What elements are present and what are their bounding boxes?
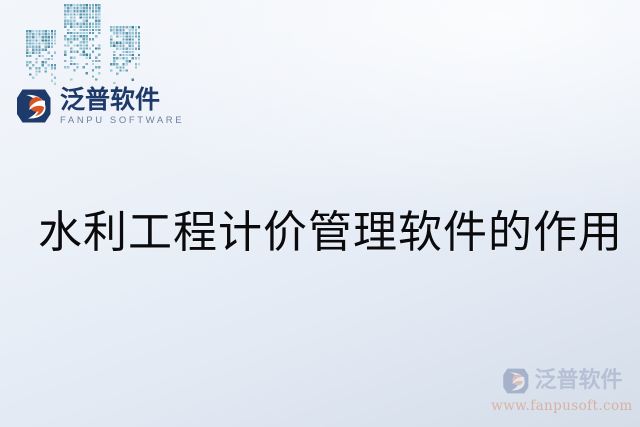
skyline-tile	[110, 38, 112, 40]
skyline-tile	[113, 54, 115, 56]
skyline-tile	[132, 35, 134, 37]
skyline-tile	[92, 23, 94, 25]
skyline-tile	[51, 80, 53, 82]
skyline-tile	[42, 55, 44, 57]
watermark-logo-row: 泛普软件	[501, 366, 622, 396]
pixel-skyline-graphic	[26, 2, 144, 88]
skyline-tile	[70, 26, 72, 28]
skyline-tile	[116, 63, 118, 65]
skyline-tile	[132, 57, 134, 59]
skyline-tile	[64, 4, 66, 6]
skyline-tile	[129, 51, 131, 53]
skyline-tile	[95, 57, 97, 59]
skyline-tile	[122, 63, 124, 65]
skyline-tile	[116, 26, 118, 28]
skyline-tile	[92, 13, 94, 15]
skyline-tile	[92, 29, 94, 31]
skyline-tile	[35, 46, 37, 48]
skyline-tile	[76, 10, 78, 12]
skyline-tile	[83, 32, 85, 34]
skyline-tile	[80, 7, 82, 9]
skyline-tile	[73, 26, 75, 28]
skyline-tile	[38, 36, 40, 38]
skyline-tile	[38, 33, 40, 35]
skyline-tile	[92, 7, 94, 9]
skyline-tile	[26, 49, 28, 51]
skyline-tile	[116, 35, 118, 37]
skyline-tile	[48, 42, 50, 44]
skyline-tile	[51, 30, 53, 32]
skyline-tile	[116, 57, 118, 59]
skyline-tile	[48, 64, 50, 66]
skyline-tile	[29, 33, 31, 35]
skyline-tile	[138, 35, 140, 37]
skyline-tile	[138, 54, 140, 56]
skyline-tile	[42, 49, 44, 51]
skyline-tile	[29, 46, 31, 48]
skyline-tile	[80, 35, 82, 37]
skyline-tile	[122, 29, 124, 31]
skyline-tile	[113, 32, 115, 34]
skyline-tile	[126, 32, 128, 34]
skyline-tile	[138, 42, 140, 44]
skyline-tile	[42, 36, 44, 38]
skyline-tile	[51, 36, 53, 38]
skyline-tile	[54, 30, 56, 32]
banner-canvas: 泛普软件 FANPU SOFTWARE 水利工程计价管理软件的作用 泛普软件 w…	[0, 0, 640, 427]
skyline-tile	[126, 35, 128, 37]
skyline-tile	[126, 54, 128, 56]
skyline-tile	[86, 20, 88, 22]
skyline-tile	[129, 32, 131, 34]
skyline-tile	[86, 7, 88, 9]
skyline-tile	[116, 48, 118, 50]
skyline-tile	[54, 52, 56, 54]
skyline-tile	[83, 41, 85, 43]
skyline-tile	[67, 23, 69, 25]
skyline-tile	[95, 26, 97, 28]
skyline-tile	[98, 44, 100, 46]
skyline-tile	[73, 13, 75, 15]
skyline-tile	[95, 16, 97, 18]
skyline-tile	[70, 47, 72, 49]
skyline-tile	[64, 51, 66, 53]
skyline-tile	[86, 16, 88, 18]
skyline-tile	[51, 67, 53, 69]
skyline-tile	[45, 61, 47, 63]
skyline-tile	[64, 23, 66, 25]
skyline-tile	[113, 63, 115, 65]
skyline-tile	[54, 42, 56, 44]
skyline-tile	[83, 4, 85, 6]
skyline-tile	[26, 46, 28, 48]
skyline-tile	[98, 54, 100, 56]
skyline-tile	[48, 36, 50, 38]
fanpu-logo-mark-icon	[14, 86, 54, 126]
skyline-tile	[42, 30, 44, 32]
skyline-tile	[26, 64, 28, 66]
skyline-tile	[73, 20, 75, 22]
skyline-tile	[80, 32, 82, 34]
skyline-tile	[122, 42, 124, 44]
skyline-tile	[73, 63, 75, 65]
skyline-tile	[119, 45, 121, 47]
skyline-tile	[113, 57, 115, 59]
skyline-tile	[132, 32, 134, 34]
skyline-tile	[35, 58, 37, 60]
skyline-tile	[89, 47, 91, 49]
skyline-tile	[45, 49, 47, 51]
skyline-tile	[29, 36, 31, 38]
skyline-tile	[86, 29, 88, 31]
skyline-tile	[129, 60, 131, 62]
skyline-tile	[51, 39, 53, 41]
skyline-tile	[32, 52, 34, 54]
skyline-tile	[70, 63, 72, 65]
skyline-tile	[132, 45, 134, 47]
skyline-tile	[119, 57, 121, 59]
skyline-tile	[86, 38, 88, 40]
skyline-tile	[86, 44, 88, 46]
skyline-tile	[51, 58, 53, 60]
skyline-tile	[92, 38, 94, 40]
skyline-tile	[48, 46, 50, 48]
skyline-tile	[42, 61, 44, 63]
skyline-tile	[48, 39, 50, 41]
skyline-tile	[70, 20, 72, 22]
skyline-tile	[54, 39, 56, 41]
skyline-tile	[83, 7, 85, 9]
skyline-tile	[86, 57, 88, 59]
skyline-tile	[95, 60, 97, 62]
skyline-tile	[80, 26, 82, 28]
skyline-tile	[122, 38, 124, 40]
skyline-tile	[132, 38, 134, 40]
skyline-tile	[76, 7, 78, 9]
skyline-tile	[35, 30, 37, 32]
fanpu-logo-mark-watermark-icon	[501, 366, 531, 396]
skyline-tile	[35, 73, 37, 75]
skyline-tile	[95, 10, 97, 12]
skyline-tile	[83, 26, 85, 28]
skyline-tile	[45, 42, 47, 44]
skyline-tile	[92, 26, 94, 28]
skyline-tile	[45, 70, 47, 72]
skyline-tile	[73, 69, 75, 71]
skyline-tile	[83, 51, 85, 53]
skyline-tile	[83, 38, 85, 40]
skyline-tile	[89, 29, 91, 31]
skyline-tile	[86, 41, 88, 43]
skyline-tile	[89, 57, 91, 59]
skyline-tile	[35, 61, 37, 63]
skyline-tile	[70, 38, 72, 40]
skyline-tile	[51, 64, 53, 66]
skyline-tile	[86, 13, 88, 15]
skyline-tile	[80, 29, 82, 31]
skyline-tile	[113, 29, 115, 31]
skyline-tile	[64, 44, 66, 46]
skyline-tile	[76, 66, 78, 68]
skyline-tile	[64, 38, 66, 40]
skyline-tile	[35, 52, 37, 54]
skyline-tile	[89, 54, 91, 56]
skyline-tile	[26, 39, 28, 41]
skyline-tile	[67, 38, 69, 40]
skyline-tile	[80, 13, 82, 15]
skyline-tile	[73, 44, 75, 46]
skyline-tile	[83, 20, 85, 22]
skyline-tile	[80, 16, 82, 18]
skyline-tile	[76, 38, 78, 40]
skyline-tile	[132, 42, 134, 44]
skyline-tile	[122, 51, 124, 53]
skyline-tile	[48, 58, 50, 60]
skyline-tile	[70, 32, 72, 34]
skyline-tile	[32, 42, 34, 44]
skyline-tile	[80, 10, 82, 12]
skyline-tile	[83, 44, 85, 46]
company-name-cn: 泛普软件	[60, 87, 184, 112]
skyline-tile	[32, 49, 34, 51]
skyline-tile	[89, 4, 91, 6]
skyline-tile	[26, 36, 28, 38]
skyline-tile	[122, 35, 124, 37]
skyline-tile	[113, 82, 115, 84]
skyline-tile	[122, 66, 124, 68]
skyline-tile	[110, 69, 112, 71]
skyline-tile	[64, 66, 66, 68]
skyline-tile	[132, 48, 134, 50]
skyline-tile	[119, 26, 121, 28]
skyline-tile	[122, 54, 124, 56]
skyline-tile	[38, 46, 40, 48]
skyline-tile	[89, 26, 91, 28]
skyline-tile	[129, 29, 131, 31]
skyline-tile	[67, 20, 69, 22]
skyline-tile	[45, 36, 47, 38]
skyline-tile	[83, 23, 85, 25]
skyline-tile	[32, 64, 34, 66]
skyline-tile	[116, 73, 118, 75]
skyline-tile	[70, 4, 72, 6]
skyline-tile	[70, 35, 72, 37]
skyline-tile	[54, 36, 56, 38]
skyline-tile	[95, 20, 97, 22]
skyline-tile	[42, 39, 44, 41]
skyline-tile	[129, 54, 131, 56]
skyline-tile	[92, 60, 94, 62]
skyline-tile	[70, 41, 72, 43]
skyline-tile	[48, 33, 50, 35]
skyline-tile	[119, 29, 121, 31]
skyline-tile	[92, 69, 94, 71]
skyline-tile	[35, 39, 37, 41]
skyline-tile	[92, 63, 94, 65]
skyline-tile	[38, 70, 40, 72]
skyline-tile	[92, 10, 94, 12]
skyline-tile	[73, 4, 75, 6]
skyline-tile	[83, 66, 85, 68]
skyline-tile	[73, 35, 75, 37]
skyline-tile	[86, 10, 88, 12]
skyline-tile	[45, 67, 47, 69]
skyline-tile	[110, 29, 112, 31]
skyline-tile	[51, 73, 53, 75]
skyline-tile	[45, 46, 47, 48]
skyline-tile	[83, 35, 85, 37]
skyline-tile	[73, 32, 75, 34]
skyline-tile	[113, 45, 115, 47]
skyline-tile	[135, 48, 137, 50]
skyline-tile	[38, 52, 40, 54]
skyline-tile	[89, 23, 91, 25]
skyline-tile	[64, 10, 66, 12]
skyline-tile	[67, 32, 69, 34]
skyline-tile	[32, 39, 34, 41]
skyline-tile	[92, 4, 94, 6]
page-title: 水利工程计价管理软件的作用	[38, 207, 623, 259]
skyline-tile	[89, 7, 91, 9]
skyline-tile	[113, 26, 115, 28]
skyline-tile	[51, 33, 53, 35]
skyline-tile	[132, 26, 134, 28]
skyline-tile	[29, 67, 31, 69]
skyline-tile	[98, 32, 100, 34]
skyline-tile	[38, 67, 40, 69]
skyline-tile	[29, 73, 31, 75]
skyline-tile	[70, 7, 72, 9]
skyline-tile	[122, 45, 124, 47]
skyline-tile	[119, 66, 121, 68]
skyline-tile	[70, 51, 72, 53]
skyline-tile	[38, 39, 40, 41]
skyline-tile	[95, 4, 97, 6]
skyline-tile	[138, 48, 140, 50]
skyline-tile	[129, 45, 131, 47]
skyline-tile	[76, 51, 78, 53]
skyline-tile	[98, 16, 100, 18]
skyline-tile	[73, 38, 75, 40]
skyline-tile	[89, 32, 91, 34]
skyline-tile	[122, 32, 124, 34]
skyline-tile	[26, 33, 28, 35]
skyline-tile	[119, 42, 121, 44]
skyline-tile	[135, 29, 137, 31]
skyline-tile	[54, 67, 56, 69]
skyline-tile	[98, 29, 100, 31]
skyline-tile	[45, 30, 47, 32]
skyline-tile	[98, 4, 100, 6]
skyline-tile	[76, 32, 78, 34]
skyline-tile	[70, 10, 72, 12]
skyline-tile	[45, 58, 47, 60]
skyline-tile	[135, 35, 137, 37]
skyline-tile	[119, 32, 121, 34]
skyline-tile	[95, 23, 97, 25]
skyline-tile	[138, 26, 140, 28]
skyline-tile	[54, 83, 56, 85]
skyline-tile	[89, 38, 91, 40]
skyline-tile	[86, 26, 88, 28]
skyline-tile	[138, 45, 140, 47]
skyline-tile	[32, 77, 34, 79]
skyline-tile	[32, 30, 34, 32]
skyline-tile	[113, 51, 115, 53]
skyline-tile	[95, 13, 97, 15]
skyline-tile	[35, 33, 37, 35]
skyline-tile	[70, 16, 72, 18]
skyline-tile	[76, 63, 78, 65]
skyline-tile	[32, 33, 34, 35]
skyline-tile	[67, 7, 69, 9]
skyline-tile	[70, 23, 72, 25]
skyline-tile	[98, 13, 100, 15]
skyline-tile	[138, 63, 140, 65]
skyline-tile	[126, 57, 128, 59]
skyline-tile	[38, 30, 40, 32]
skyline-tile	[116, 32, 118, 34]
skyline-tile	[98, 7, 100, 9]
skyline-tile	[45, 39, 47, 41]
skyline-tile	[95, 66, 97, 68]
skyline-tile	[135, 42, 137, 44]
skyline-tile	[122, 57, 124, 59]
skyline-tile	[42, 42, 44, 44]
skyline-tile	[129, 35, 131, 37]
skyline-tile	[119, 54, 121, 56]
skyline-tile	[76, 23, 78, 25]
skyline-tile	[113, 42, 115, 44]
skyline-tile	[98, 20, 100, 22]
skyline-tile	[64, 26, 66, 28]
skyline-tile	[42, 33, 44, 35]
skyline-tile	[67, 4, 69, 6]
skyline-tile	[42, 64, 44, 66]
skyline-tile	[73, 10, 75, 12]
skyline-tile	[135, 66, 137, 68]
skyline-tile	[51, 42, 53, 44]
skyline-tile	[73, 23, 75, 25]
skyline-tile	[64, 16, 66, 18]
skyline-tile	[48, 30, 50, 32]
skyline-tile	[92, 16, 94, 18]
skyline-tile	[110, 63, 112, 65]
skyline-tile	[29, 55, 31, 57]
skyline-tile	[119, 35, 121, 37]
skyline-tile	[92, 32, 94, 34]
skyline-tile	[83, 54, 85, 56]
skyline-tile	[35, 67, 37, 69]
skyline-tile	[83, 29, 85, 31]
skyline-tile	[26, 52, 28, 54]
skyline-tile	[64, 13, 66, 15]
skyline-tile	[86, 47, 88, 49]
company-name-en: FANPU SOFTWARE	[60, 116, 184, 126]
skyline-tile	[51, 46, 53, 48]
skyline-tile	[129, 42, 131, 44]
skyline-tile	[98, 66, 100, 68]
skyline-tile	[80, 4, 82, 6]
skyline-tile	[113, 60, 115, 62]
fanpu-logo-wordmark: 泛普软件 FANPU SOFTWARE	[60, 87, 184, 126]
skyline-tile	[38, 49, 40, 51]
skyline-tile	[98, 60, 100, 62]
skyline-tile	[29, 39, 31, 41]
skyline-tile	[67, 66, 69, 68]
skyline-tile	[92, 75, 94, 77]
skyline-tile	[73, 7, 75, 9]
